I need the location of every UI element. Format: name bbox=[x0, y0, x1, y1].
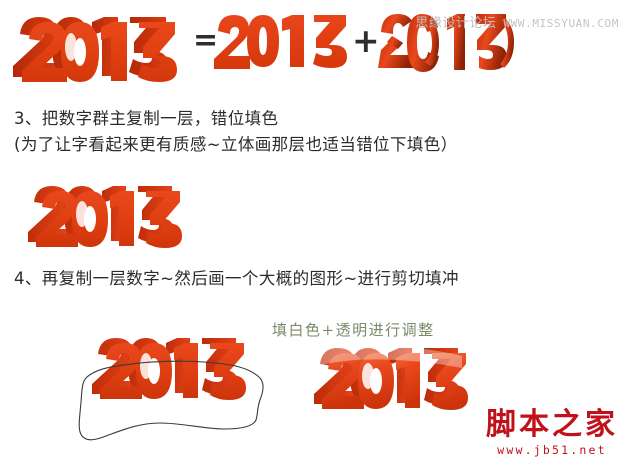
watermark-url-text: WWW.MISSYUAN.COM bbox=[503, 17, 619, 30]
artwork-extrusion-2013 bbox=[378, 8, 518, 80]
plus-sign: + bbox=[352, 24, 380, 57]
tutorial-canvas: = + bbox=[0, 0, 627, 462]
step3-instruction-line2: (为了让字看起来更有质感~立体画那层也适当错位下填色） bbox=[14, 134, 458, 155]
equals-sign: = bbox=[193, 26, 218, 56]
artwork-step4-with-clip-shape bbox=[62, 330, 302, 455]
artwork-flat-2013 bbox=[216, 12, 351, 74]
logo-url-text: www.jb51.net bbox=[486, 443, 618, 457]
step3-instruction-line1: 3、把数字群主复制一层，错位填色 bbox=[14, 108, 278, 129]
logo-cn-text: 脚本之家 bbox=[486, 409, 618, 441]
step4-instruction-line1: 4、再复制一层数字~然后画一个大概的图形~进行剪切填冲 bbox=[14, 268, 459, 289]
artwork-step3-result bbox=[28, 178, 192, 254]
artwork-combined-2013 bbox=[12, 8, 190, 84]
artwork-step4-result bbox=[312, 338, 482, 420]
logo-jb51: 脚本之家 www.jb51.net bbox=[486, 409, 618, 457]
